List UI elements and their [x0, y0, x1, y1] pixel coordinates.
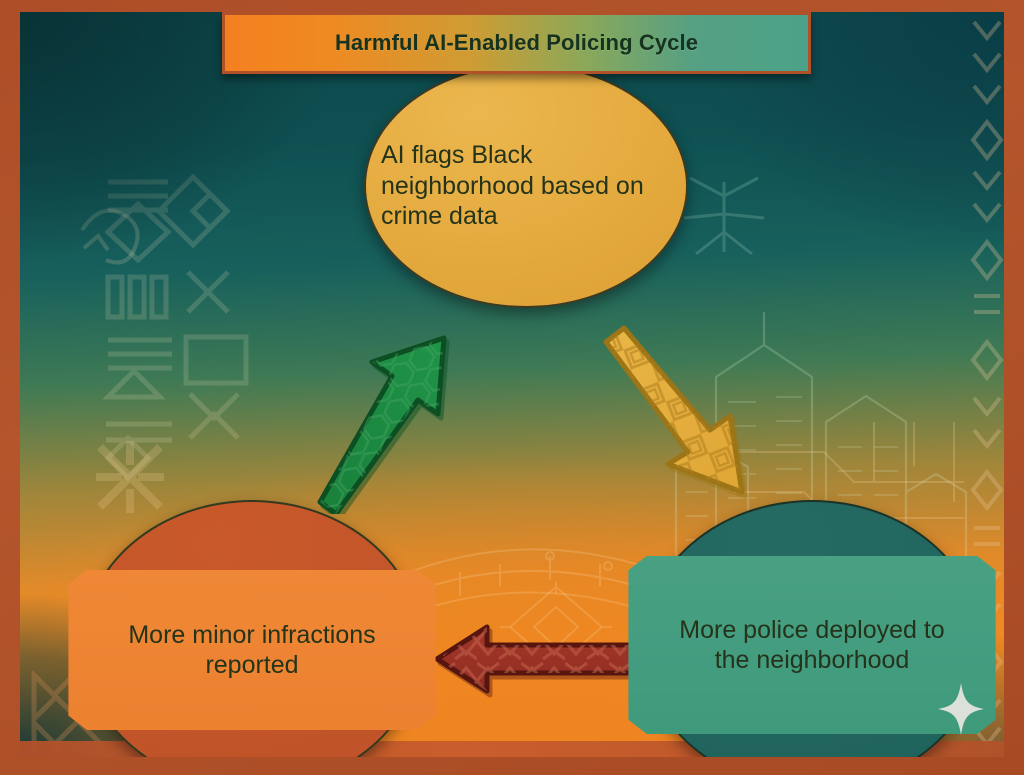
node-more-infractions[interactable]: More minor infractions reported [82, 500, 422, 757]
node-more-infractions-label: More minor infractions reported [96, 620, 408, 681]
node-more-infractions-band: More minor infractions reported [68, 570, 435, 730]
node-ai-flags-label: AI flags Black neighborhood based on cri… [375, 140, 677, 232]
title-banner: Harmful AI-Enabled Policing Cycle [222, 12, 811, 74]
sparkle-icon [938, 683, 984, 735]
artboard: AI flags Black neighborhood based on cri… [20, 12, 1004, 757]
node-ai-flags-label-wrap: AI flags Black neighborhood based on cri… [364, 64, 688, 308]
page-title: Harmful AI-Enabled Policing Cycle [335, 30, 698, 56]
node-more-police[interactable]: More police deployed to the neighborhood [642, 500, 982, 757]
node-ai-flags[interactable]: AI flags Black neighborhood based on cri… [364, 64, 688, 308]
arrow-ai-to-police [600, 322, 760, 517]
infographic-canvas: AI flags Black neighborhood based on cri… [0, 0, 1024, 775]
node-more-police-label: More police deployed to the neighborhood [661, 615, 963, 676]
arrow-infractions-to-ai [312, 324, 452, 514]
